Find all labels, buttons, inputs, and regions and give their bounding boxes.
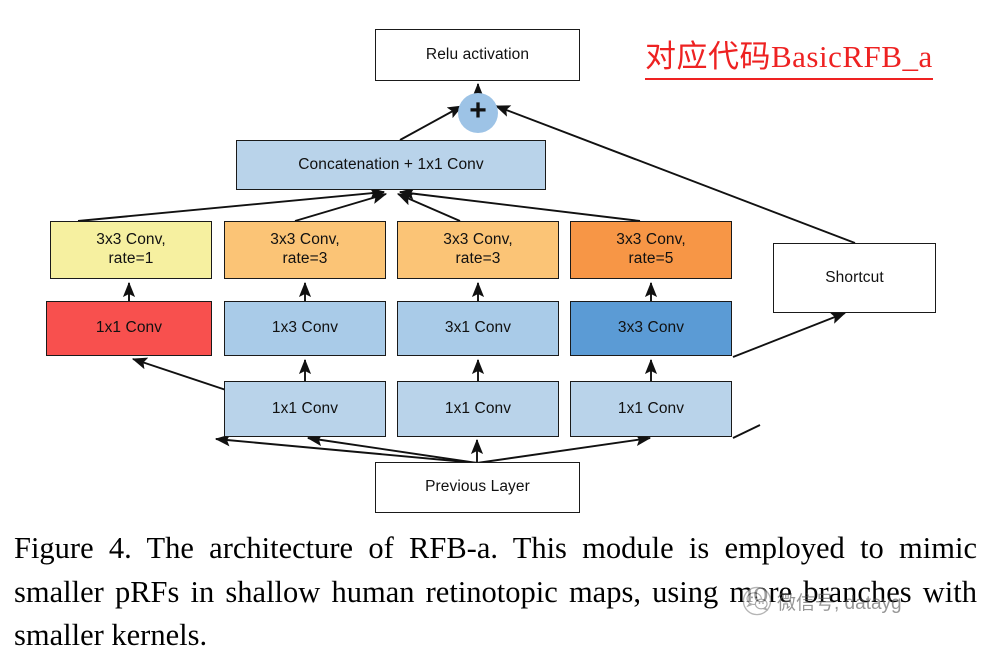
node-conv3x1[interactable]: 3x1 Conv: [397, 301, 559, 356]
node-conv3x3-rate1[interactable]: 3x3 Conv, rate=1: [50, 221, 212, 279]
node-conv3x3[interactable]: 3x3 Conv: [570, 301, 732, 356]
node-reduce-conv1x1-c[interactable]: 1x1 Conv: [570, 381, 732, 437]
code-annotation: 对应代码BasicRFB_a: [645, 31, 933, 80]
node-concatenation[interactable]: Concatenation + 1x1 Conv: [236, 140, 546, 190]
edge-stub-pre3-right: [733, 425, 760, 438]
node-conv1x1-branch[interactable]: 1x1 Conv: [46, 301, 212, 356]
edge-rate3b-to-concat: [398, 194, 460, 221]
edge-prev-to-pre1: [308, 438, 477, 463]
plus-icon: +: [469, 96, 487, 126]
node-conv3x3-rate3-b[interactable]: 3x3 Conv, rate=3: [397, 221, 559, 279]
figure-canvas: Relu activation + Concatenation + 1x1 Co…: [0, 0, 991, 653]
edge-rate5-to-concat: [400, 192, 640, 221]
node-relu-activation[interactable]: Relu activation: [375, 29, 580, 81]
node-conv3x3-rate5[interactable]: 3x3 Conv, rate=5: [570, 221, 732, 279]
figure-caption: Figure 4. The architecture of RFB-a. Thi…: [14, 527, 977, 658]
node-adder[interactable]: +: [458, 93, 498, 133]
edge-concat-to-adder: [400, 106, 462, 140]
node-conv1x3[interactable]: 1x3 Conv: [224, 301, 386, 356]
edge-prev-to-conv11a-long: [216, 439, 477, 463]
node-reduce-conv1x1-a[interactable]: 1x1 Conv: [224, 381, 386, 437]
edge-rate3a-to-concat: [295, 194, 386, 221]
node-previous-layer[interactable]: Previous Layer: [375, 462, 580, 513]
node-reduce-conv1x1-b[interactable]: 1x1 Conv: [397, 381, 559, 437]
node-conv3x3-rate3-a[interactable]: 3x3 Conv, rate=3: [224, 221, 386, 279]
edge-pre1-to-conv11a: [133, 359, 226, 390]
edge-conv33-to-shortcut: [733, 313, 845, 357]
node-shortcut[interactable]: Shortcut: [773, 243, 936, 313]
edge-prev-to-pre3: [477, 438, 650, 463]
edge-rate1-to-concat: [78, 192, 384, 221]
